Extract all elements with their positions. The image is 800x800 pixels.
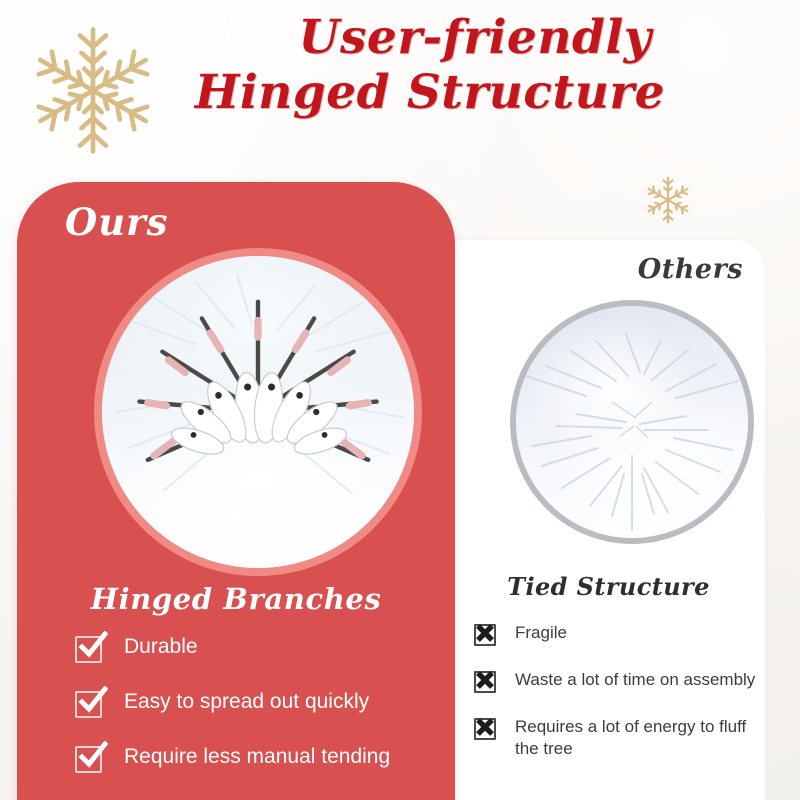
list-item-label: Durable [124,634,198,660]
checkbox-x-icon [474,718,496,740]
checkbox-x-icon [474,624,496,646]
ours-heading: Hinged Branches [17,582,455,616]
others-list: Fragile Waste a lot of time on assembly … [474,622,759,783]
list-item: Fragile [474,622,759,646]
others-heading: Tied Structure [452,572,765,601]
checkbox-checked-icon [75,746,102,773]
bokeh-speck [738,176,745,183]
list-item: Requires a lot of energy to fluff the tr… [474,716,759,760]
title-line-1: User-friendly [0,14,800,63]
checkbox-x-icon [474,671,496,693]
snowflake-icon [640,172,696,228]
others-panel: Others Tied Structure [452,240,765,800]
bokeh-speck [300,150,307,157]
list-item-label: Requires a lot of energy to fluff the tr… [515,716,759,760]
list-item-label: Fragile [515,622,567,644]
list-item: Require less manual tending [75,744,435,773]
list-item-label: Waste a lot of time on assembly [515,669,755,691]
list-item: Waste a lot of time on assembly [474,669,759,693]
list-item: Easy to spread out quickly [75,689,435,718]
checkbox-checked-icon [75,691,102,718]
ours-label: Ours [65,200,168,244]
others-label: Others [638,254,743,285]
bokeh-speck [470,170,478,178]
title-line-2: Hinged Structure [0,69,800,118]
list-item-label: Easy to spread out quickly [124,689,369,715]
checkbox-checked-icon [75,636,102,663]
hinged-branches-photo [94,248,422,576]
list-item-label: Require less manual tending [124,744,390,770]
page-title: User-friendly Hinged Structure [0,14,800,118]
tied-structure-photo [510,300,754,544]
infographic-canvas: User-friendly Hinged Structure Others [0,0,800,800]
ours-panel: Ours [17,182,455,800]
list-item: Durable [75,634,435,663]
ours-list: Durable Easy to spread out quickly Requi… [75,634,435,799]
